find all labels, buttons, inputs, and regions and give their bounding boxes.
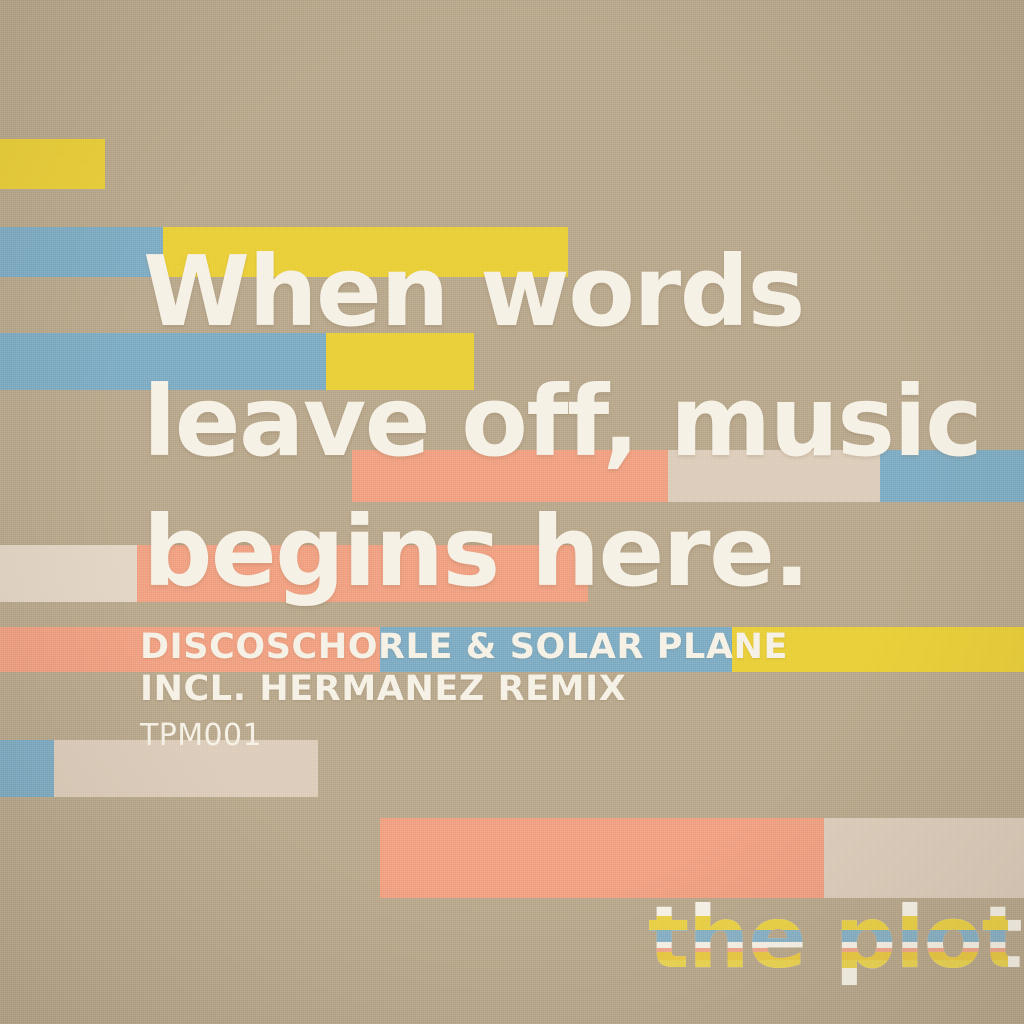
credit-remix: INCL. HERMANEZ REMIX (140, 669, 626, 709)
credit-artists: DISCOSCHORLE & SOLAR PLANE (140, 627, 788, 667)
title-line-2: leave off, music (143, 373, 981, 470)
bar-yellow-top (0, 139, 105, 189)
title-line-3: begins here. (143, 503, 809, 600)
bar-salmon-bottom (380, 818, 824, 898)
label-logo: the plot the plot the plot (648, 890, 1008, 986)
catalog-number: TPM001 (140, 718, 262, 753)
album-cover-artwork: When words leave off, music begins here.… (0, 0, 1024, 1024)
title-line-1: When words (143, 243, 804, 340)
bar-blue-row2 (0, 227, 163, 277)
label-logo-stripes-b: the plot (648, 890, 1008, 986)
bar-blue-row7 (0, 740, 54, 797)
bar-cream-bottom (824, 818, 1024, 898)
bar-cream-row5 (0, 545, 137, 602)
